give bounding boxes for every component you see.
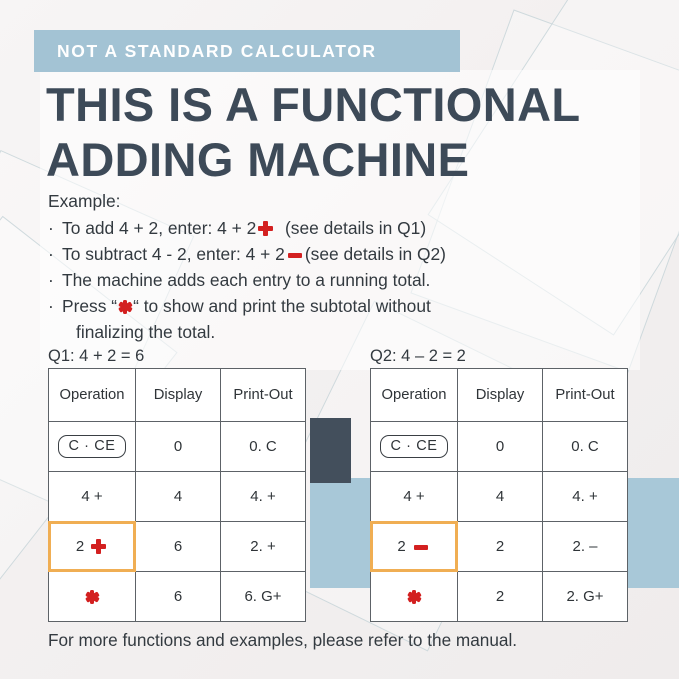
column-header-operation: Operation — [371, 369, 458, 422]
list-item-text-before: To subtract 4 - 2, enter: 4 + 2 — [62, 244, 285, 264]
cell-printout: 4. + — [543, 472, 628, 522]
bullet-marker: · — [48, 294, 62, 320]
cell-operation-content: 2 — [49, 538, 135, 555]
list-item-text-after: (see details in Q1) — [285, 218, 426, 238]
kicker-banner-text: NOT A STANDARD CALCULATOR — [57, 41, 377, 62]
cell-operation-value: 2 — [397, 538, 405, 555]
plus-icon — [258, 221, 273, 236]
cell-display: 0 — [458, 422, 543, 472]
cell-operation: C · CE — [371, 422, 458, 472]
cell-operation: 4 + — [371, 472, 458, 522]
table-row: C · CE 0 0. C — [371, 422, 628, 472]
cell-operation-content: 2 — [371, 538, 457, 555]
cell-operation-value: 2 — [76, 538, 84, 555]
list-item-continuation: finalizing the total. — [62, 320, 648, 346]
table-header-row: Operation Display Print-Out — [49, 369, 306, 422]
list-item-text-after: “ to show and print the subtotal without — [133, 296, 431, 316]
column-header-printout: Print-Out — [543, 369, 628, 422]
cell-printout: 2. G+ — [543, 572, 628, 622]
cell-operation-content — [49, 590, 135, 604]
list-item-text-after: (see details in Q2) — [305, 244, 446, 264]
list-item: · Press ““ to show and print the subtota… — [48, 294, 648, 346]
clear-key-pill: C · CE — [58, 435, 125, 458]
cell-operation: C · CE — [49, 422, 136, 472]
list-item-text-before: Press “ — [62, 296, 117, 316]
table-row: 4 + 4 4. + — [371, 472, 628, 522]
plus-icon — [91, 539, 106, 554]
cell-operation — [371, 572, 458, 622]
example-section: Example: · To add 4 + 2, enter: 4 + 2 (s… — [48, 189, 648, 346]
cell-operation-content — [371, 590, 457, 604]
cell-printout: 0. C — [221, 422, 306, 472]
footer-note: For more functions and examples, please … — [48, 630, 517, 651]
minus-icon — [414, 540, 428, 554]
cell-display: 6 — [136, 572, 221, 622]
cell-printout: 6. G+ — [221, 572, 306, 622]
table-row: 2 2. G+ — [371, 572, 628, 622]
minus-icon — [288, 248, 302, 262]
cell-printout: 0. C — [543, 422, 628, 472]
cell-display: 6 — [136, 522, 221, 572]
asterisk-icon — [407, 590, 421, 604]
bullet-marker: · — [48, 216, 62, 242]
table-caption-q1: Q1: 4 + 2 = 6 — [48, 347, 144, 366]
page-title: THIS IS A FUNCTIONAL ADDING MACHINE — [46, 78, 656, 188]
table-row: C · CE 0 0. C — [49, 422, 306, 472]
list-item-body: To subtract 4 - 2, enter: 4 + 2(see deta… — [62, 242, 648, 268]
accent-block-center — [310, 478, 376, 588]
page-title-line-1: THIS IS A FUNCTIONAL — [46, 78, 656, 133]
table-row: 4 + 4 4. + — [49, 472, 306, 522]
accent-block-dark — [310, 418, 351, 483]
list-item-text-before: The machine adds each entry to a running… — [62, 268, 648, 294]
cell-printout: 2. + — [221, 522, 306, 572]
list-item-text-before: To add 4 + 2, enter: 4 + 2 — [62, 218, 256, 238]
cell-operation-highlighted: 2 — [371, 522, 458, 572]
column-header-display: Display — [136, 369, 221, 422]
calc-table-q1: Operation Display Print-Out C · CE 0 0. … — [48, 368, 306, 622]
table-row: 6 6. G+ — [49, 572, 306, 622]
column-header-operation: Operation — [49, 369, 136, 422]
poster-canvas: NOT A STANDARD CALCULATOR THIS IS A FUNC… — [0, 0, 679, 679]
cell-display: 2 — [458, 572, 543, 622]
asterisk-icon — [85, 590, 99, 604]
table-row: 2 2 2. – — [371, 522, 628, 572]
list-item: · The machine adds each entry to a runni… — [48, 268, 648, 294]
cell-printout: 2. – — [543, 522, 628, 572]
cell-display: 2 — [458, 522, 543, 572]
table-header-row: Operation Display Print-Out — [371, 369, 628, 422]
cell-display: 4 — [136, 472, 221, 522]
asterisk-icon — [118, 300, 132, 314]
table-caption-q2: Q2: 4 – 2 = 2 — [370, 347, 466, 366]
cell-printout: 4. + — [221, 472, 306, 522]
list-item-body: To add 4 + 2, enter: 4 + 2 (see details … — [62, 216, 648, 242]
cell-operation-highlighted: 2 — [49, 522, 136, 572]
calc-table-q2: Operation Display Print-Out C · CE 0 0. … — [370, 368, 628, 622]
list-item-body: Press ““ to show and print the subtotal … — [62, 294, 648, 346]
column-header-display: Display — [458, 369, 543, 422]
cell-display: 0 — [136, 422, 221, 472]
bullet-marker: · — [48, 242, 62, 268]
bullet-marker: · — [48, 268, 62, 294]
cell-display: 4 — [458, 472, 543, 522]
column-header-printout: Print-Out — [221, 369, 306, 422]
cell-operation: 4 + — [49, 472, 136, 522]
list-item: · To subtract 4 - 2, enter: 4 + 2(see de… — [48, 242, 648, 268]
example-label: Example: — [48, 189, 648, 215]
table-row: 2 6 2. + — [49, 522, 306, 572]
accent-block-right — [624, 478, 679, 588]
cell-operation — [49, 572, 136, 622]
kicker-banner: NOT A STANDARD CALCULATOR — [34, 30, 460, 72]
list-item: · To add 4 + 2, enter: 4 + 2 (see detail… — [48, 216, 648, 242]
clear-key-pill: C · CE — [380, 435, 447, 458]
page-title-line-2: ADDING MACHINE — [46, 133, 656, 188]
